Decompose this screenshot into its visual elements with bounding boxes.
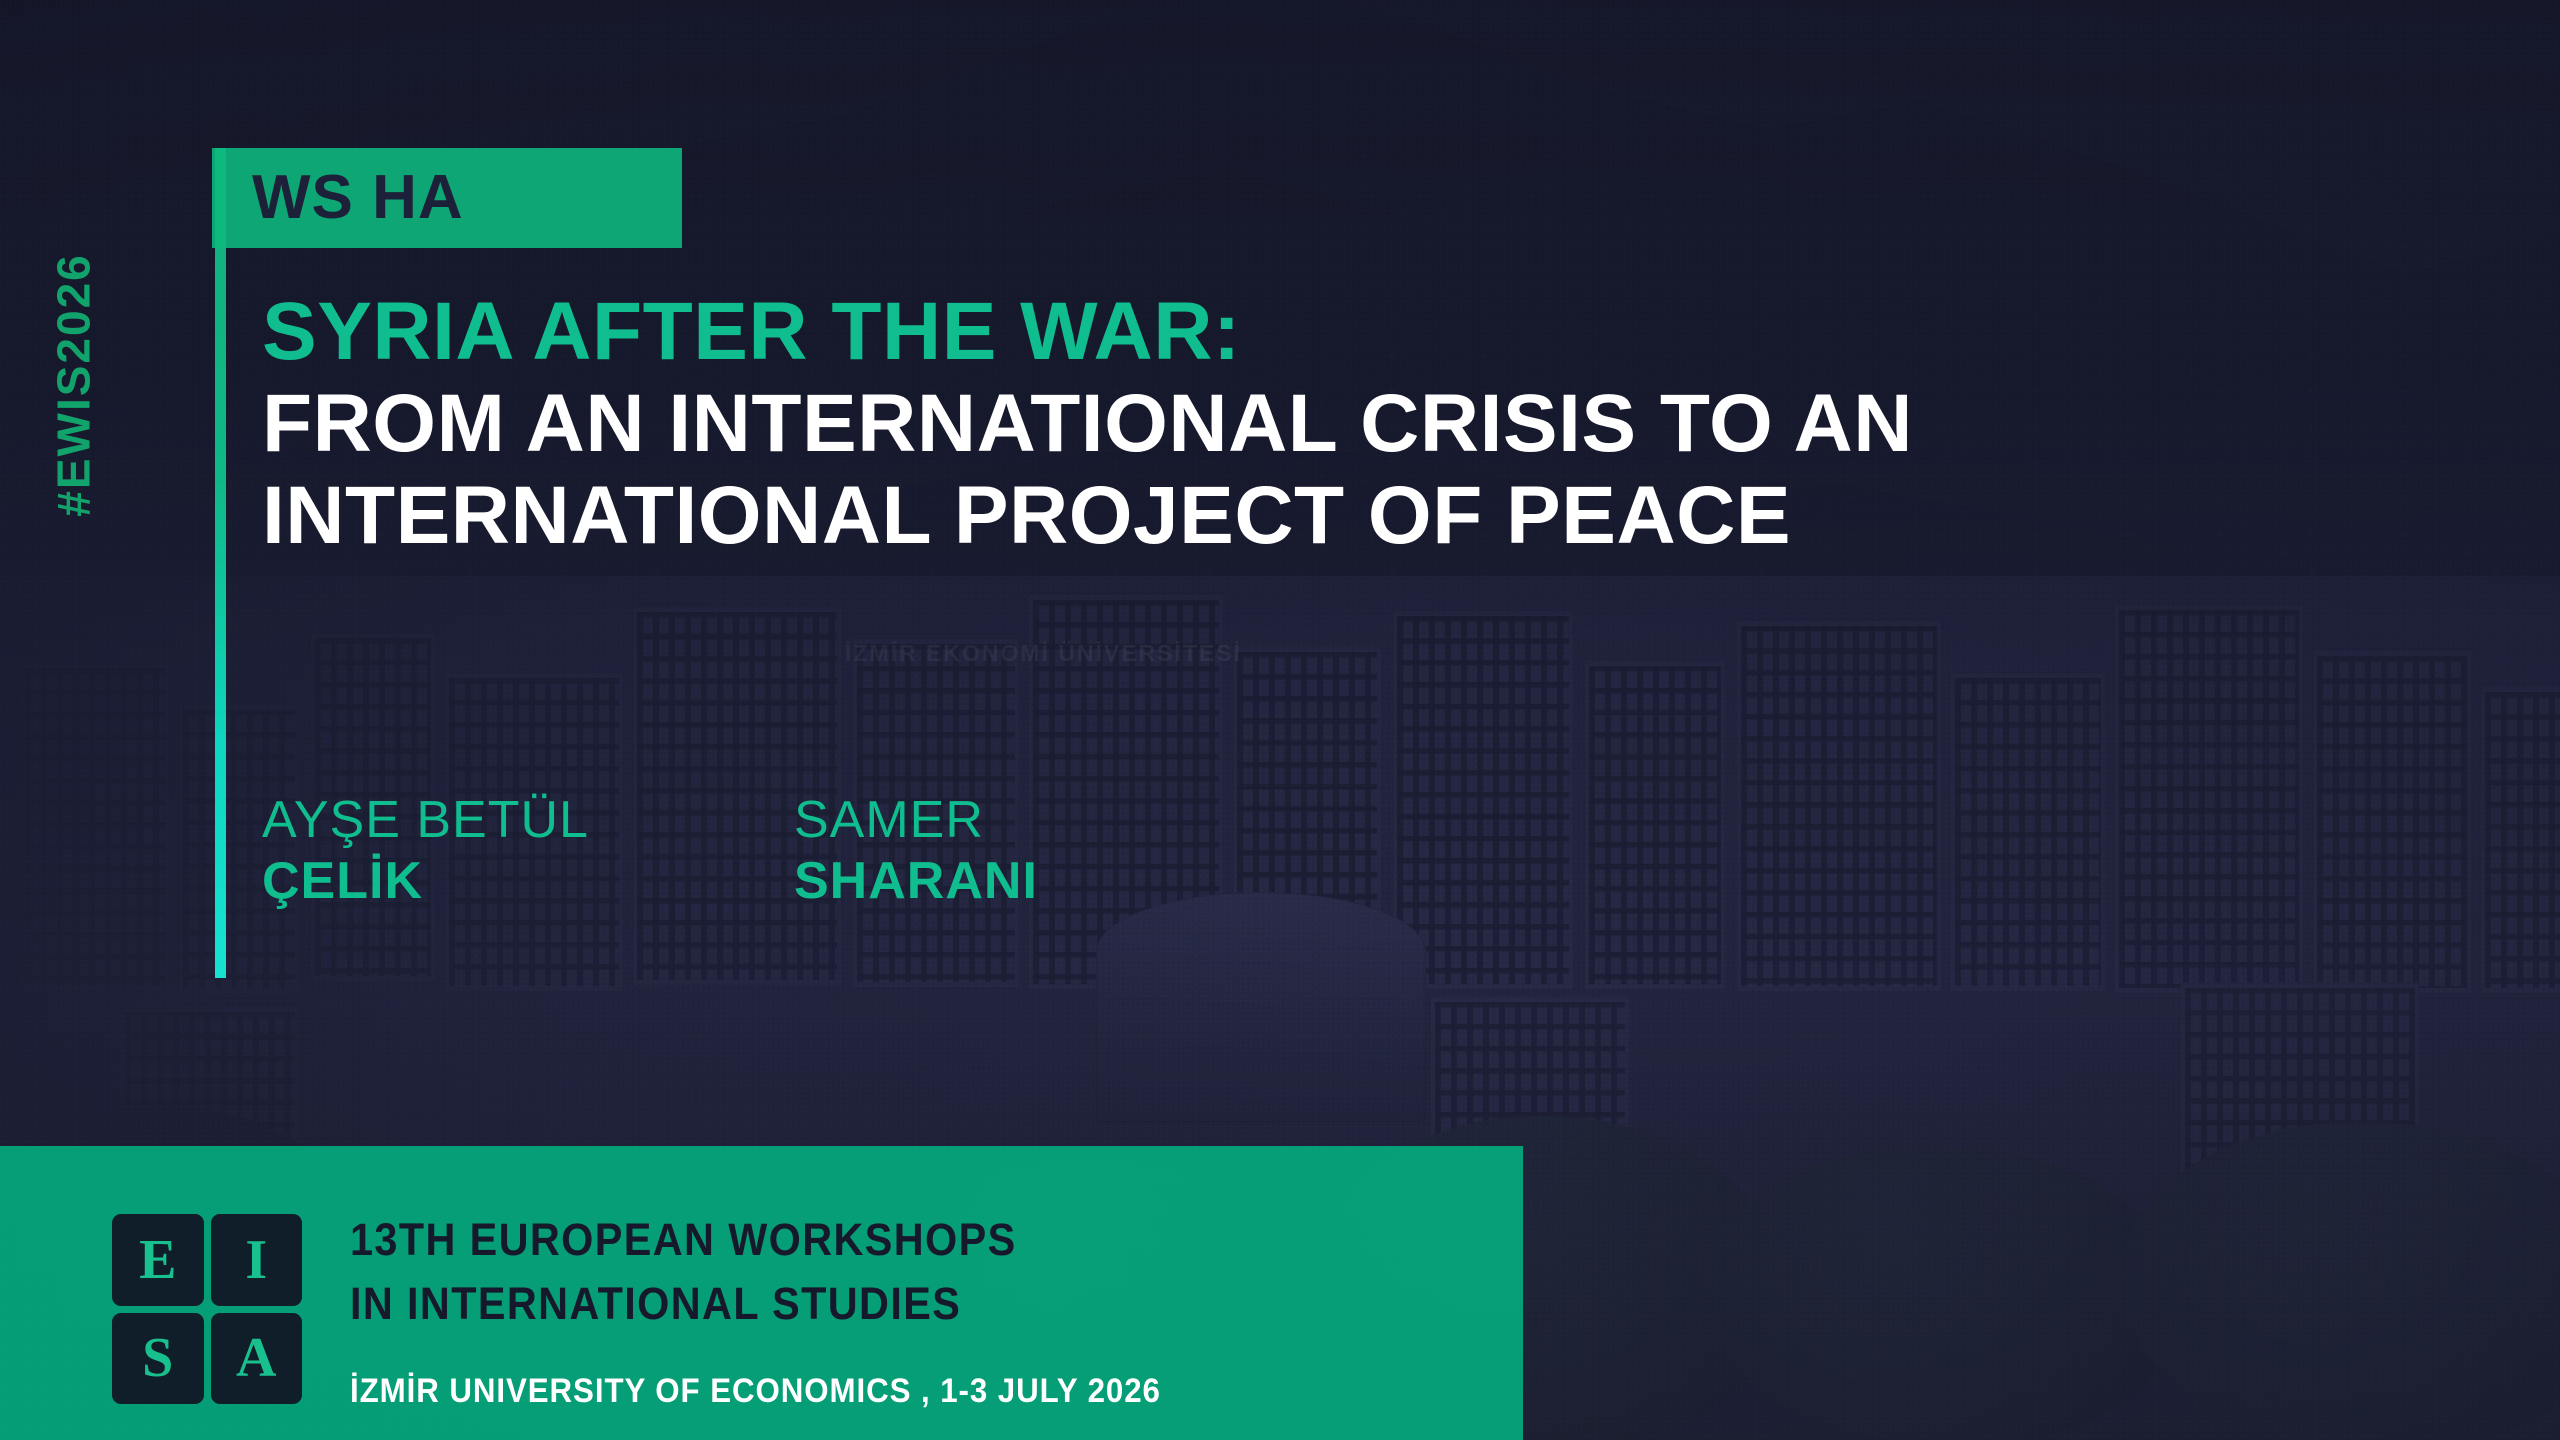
event-details: 13TH EUROPEAN WORKSHOPS IN INTERNATIONAL… (350, 1208, 1231, 1411)
title-line-2: FROM AN INTERNATIONAL CRISIS TO AN (262, 378, 2442, 470)
author-list: AYŞE BETÜL ÇELİK SAMER SHARANI (262, 790, 1264, 913)
event-hashtag: #EWIS2026 (14, 148, 134, 668)
eisa-logo-cell-s: S (112, 1313, 204, 1405)
author-given-name: AYŞE BETÜL (262, 790, 732, 851)
eisa-logo-letter: E (139, 1232, 176, 1288)
vertical-accent-rule (215, 148, 226, 978)
title-line-1: SYRIA AFTER THE WAR: (262, 286, 2442, 378)
author-given-name: SAMER (794, 790, 1264, 851)
author-entry: AYŞE BETÜL ÇELİK (262, 790, 732, 913)
eisa-logo-cell-a: A (211, 1313, 303, 1405)
event-footer-bar: E I S A 13TH EUROPEAN WORKSHOPS IN INTER… (0, 1146, 1523, 1440)
author-family-name: SHARANI (794, 851, 1264, 912)
eisa-logo-cell-i: I (211, 1214, 303, 1306)
event-hashtag-label: #EWIS2026 (47, 253, 101, 516)
eisa-logo-cell-e: E (112, 1214, 204, 1306)
eisa-logo: E I S A (112, 1214, 302, 1404)
author-family-name: ÇELİK (262, 851, 732, 912)
eisa-logo-letter: S (142, 1330, 173, 1386)
eisa-logo-letter: I (245, 1232, 267, 1288)
conference-poster: İZMİR EKONOMİ ÜNİVERSİTESİ #EWIS2026 WS … (0, 0, 2560, 1440)
title-line-3: INTERNATIONAL PROJECT OF PEACE (262, 470, 2442, 562)
event-venue-and-date: İZMİR UNIVERSITY OF ECONOMICS , 1-3 JULY… (350, 1372, 1161, 1411)
poster-content: #EWIS2026 WS HA SYRIA AFTER THE WAR: FRO… (0, 0, 2560, 1440)
workshop-code-badge: WS HA (212, 148, 682, 248)
event-name-line-2: IN INTERNATIONAL STUDIES (350, 1272, 1161, 1336)
event-name-line-1: 13TH EUROPEAN WORKSHOPS (350, 1208, 1161, 1272)
workshop-code-label: WS HA (252, 167, 464, 229)
presentation-title: SYRIA AFTER THE WAR: FROM AN INTERNATION… (262, 286, 2442, 561)
eisa-logo-letter: A (236, 1330, 276, 1386)
author-entry: SAMER SHARANI (794, 790, 1264, 913)
